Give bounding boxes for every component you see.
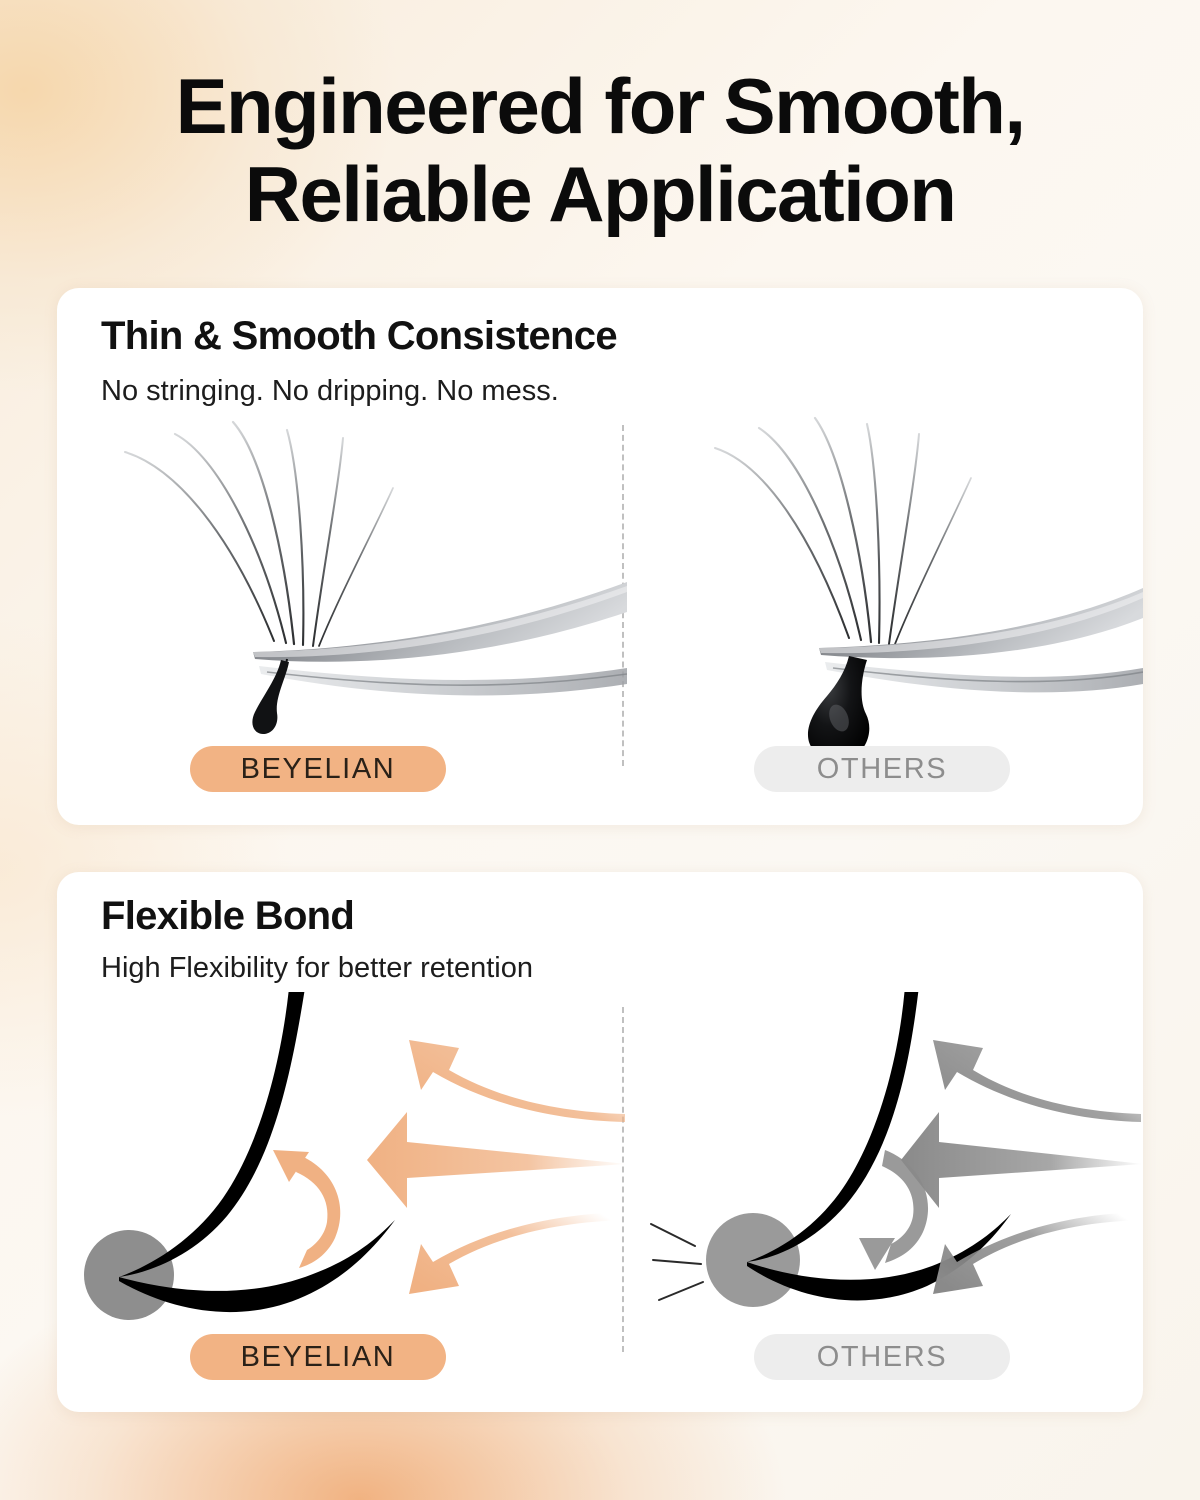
- beyelian-flex-illustration: [77, 992, 627, 1352]
- page-title: Engineered for Smooth, Reliable Applicat…: [0, 62, 1200, 238]
- label-beyelian: BEYELIAN: [190, 1334, 446, 1380]
- crack-lines: [651, 1224, 703, 1300]
- label-others: OTHERS: [754, 1334, 1010, 1380]
- feature-card-flexible-bond: Flexible Bond High Flexibility for bette…: [57, 872, 1143, 1412]
- others-flex-illustration: [623, 992, 1143, 1352]
- label-others: OTHERS: [754, 746, 1010, 792]
- card-title: Flexible Bond: [101, 894, 354, 939]
- beyelian-tweezer-illustration: [67, 416, 627, 766]
- card-subtitle: No stringing. No dripping. No mess.: [101, 375, 559, 408]
- label-beyelian: BEYELIAN: [190, 746, 446, 792]
- infographic-page: Engineered for Smooth, Reliable Applicat…: [0, 0, 1200, 1500]
- others-tweezer-illustration: [623, 416, 1143, 766]
- card-subtitle: High Flexibility for better retention: [101, 952, 533, 985]
- feature-card-thin-smooth: Thin & Smooth Consistence No stringing. …: [57, 288, 1143, 825]
- card-title: Thin & Smooth Consistence: [101, 314, 617, 359]
